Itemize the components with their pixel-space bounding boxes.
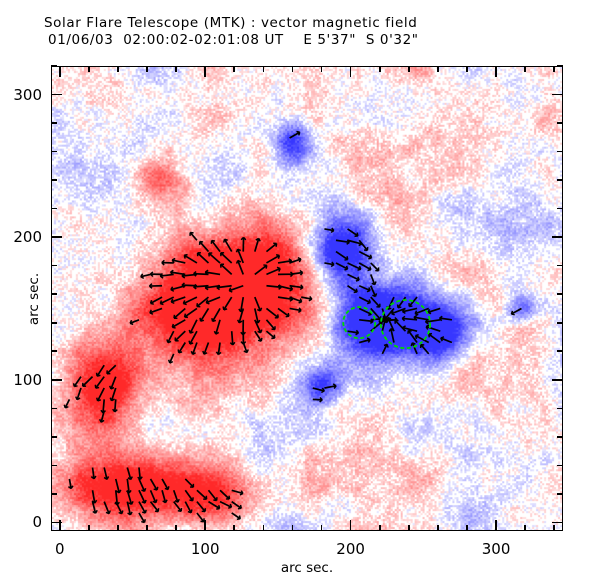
y-tick-label: 0	[8, 513, 42, 531]
y-minor-tick	[51, 293, 57, 295]
x-tick-label: 200	[336, 540, 365, 558]
x-minor-tick-top	[408, 66, 410, 72]
x-minor-tick	[437, 525, 439, 531]
x-minor-tick-top	[263, 66, 265, 72]
x-major-tick	[204, 520, 206, 531]
y-major-tick	[51, 94, 62, 96]
x-minor-tick	[524, 525, 526, 531]
x-minor-tick-top	[292, 66, 294, 72]
x-minor-tick-top	[466, 66, 468, 72]
x-tick-label: 0	[55, 540, 65, 558]
x-minor-tick-top	[146, 66, 148, 72]
y-minor-tick	[51, 151, 57, 153]
y-minor-tick	[51, 208, 57, 210]
y-major-tick-right	[552, 94, 563, 96]
x-minor-tick-top	[88, 66, 90, 72]
y-minor-tick-right	[557, 65, 563, 67]
y-minor-tick-right	[557, 151, 563, 153]
y-minor-tick-right	[557, 350, 563, 352]
y-major-tick	[51, 379, 62, 381]
x-minor-tick	[175, 525, 177, 531]
x-minor-tick	[88, 525, 90, 531]
y-major-tick-right	[552, 236, 563, 238]
y-minor-tick	[51, 322, 57, 324]
x-minor-tick	[146, 525, 148, 531]
x-minor-tick-top	[233, 66, 235, 72]
figure-title: Solar Flare Telescope (MTK) : vector mag…	[44, 15, 417, 31]
x-minor-tick	[408, 525, 410, 531]
x-minor-tick-top	[175, 66, 177, 72]
x-tick-label: 300	[482, 540, 511, 558]
y-tick-label: 300	[8, 86, 42, 104]
y-minor-tick	[51, 65, 57, 67]
umbra-contour-small	[343, 307, 375, 338]
x-minor-tick-top	[379, 66, 381, 72]
x-minor-tick	[233, 525, 235, 531]
x-minor-tick	[553, 525, 555, 531]
y-minor-tick	[51, 493, 57, 495]
y-minor-tick-right	[557, 293, 563, 295]
y-major-tick	[51, 236, 62, 238]
x-minor-tick-top	[553, 66, 555, 72]
x-minor-tick-top	[321, 66, 323, 72]
y-minor-tick-right	[557, 265, 563, 267]
x-minor-tick	[263, 525, 265, 531]
y-major-tick	[51, 522, 62, 524]
x-major-tick	[350, 520, 352, 531]
x-minor-tick	[379, 525, 381, 531]
x-minor-tick	[321, 525, 323, 531]
y-minor-tick	[51, 265, 57, 267]
umbra-contour-overlay	[52, 67, 562, 530]
x-minor-tick	[117, 525, 119, 531]
y-major-tick-right	[552, 522, 563, 524]
x-minor-tick-top	[524, 66, 526, 72]
y-minor-tick-right	[557, 465, 563, 467]
y-minor-tick-right	[557, 179, 563, 181]
y-minor-tick-right	[557, 322, 563, 324]
magnetogram-figure: Solar Flare Telescope (MTK) : vector mag…	[0, 0, 612, 585]
y-major-tick-right	[552, 379, 563, 381]
umbra-contour-large	[381, 300, 430, 348]
y-axis-title: arc sec.	[26, 273, 42, 325]
x-major-tick-top	[59, 66, 61, 77]
x-major-tick	[495, 520, 497, 531]
x-minor-tick	[292, 525, 294, 531]
y-tick-label: 100	[8, 371, 42, 389]
x-axis-title: arc sec.	[281, 560, 333, 576]
y-minor-tick-right	[557, 493, 563, 495]
y-minor-tick	[51, 122, 57, 124]
y-minor-tick-right	[557, 122, 563, 124]
x-major-tick-top	[204, 66, 206, 77]
x-major-tick-top	[495, 66, 497, 77]
y-minor-tick-right	[557, 436, 563, 438]
figure-subtitle: 01/06/03 02:00:02-02:01:08 UT E 5'37" S …	[48, 32, 419, 48]
x-minor-tick-top	[437, 66, 439, 72]
x-minor-tick	[466, 525, 468, 531]
y-minor-tick	[51, 179, 57, 181]
x-minor-tick-top	[117, 66, 119, 72]
y-minor-tick-right	[557, 208, 563, 210]
y-minor-tick	[51, 350, 57, 352]
y-minor-tick	[51, 436, 57, 438]
x-tick-label: 100	[191, 540, 220, 558]
y-minor-tick	[51, 465, 57, 467]
x-major-tick-top	[350, 66, 352, 77]
plot-area	[51, 66, 563, 531]
y-minor-tick	[51, 408, 57, 410]
y-tick-label: 200	[8, 228, 42, 246]
y-minor-tick-right	[557, 408, 563, 410]
